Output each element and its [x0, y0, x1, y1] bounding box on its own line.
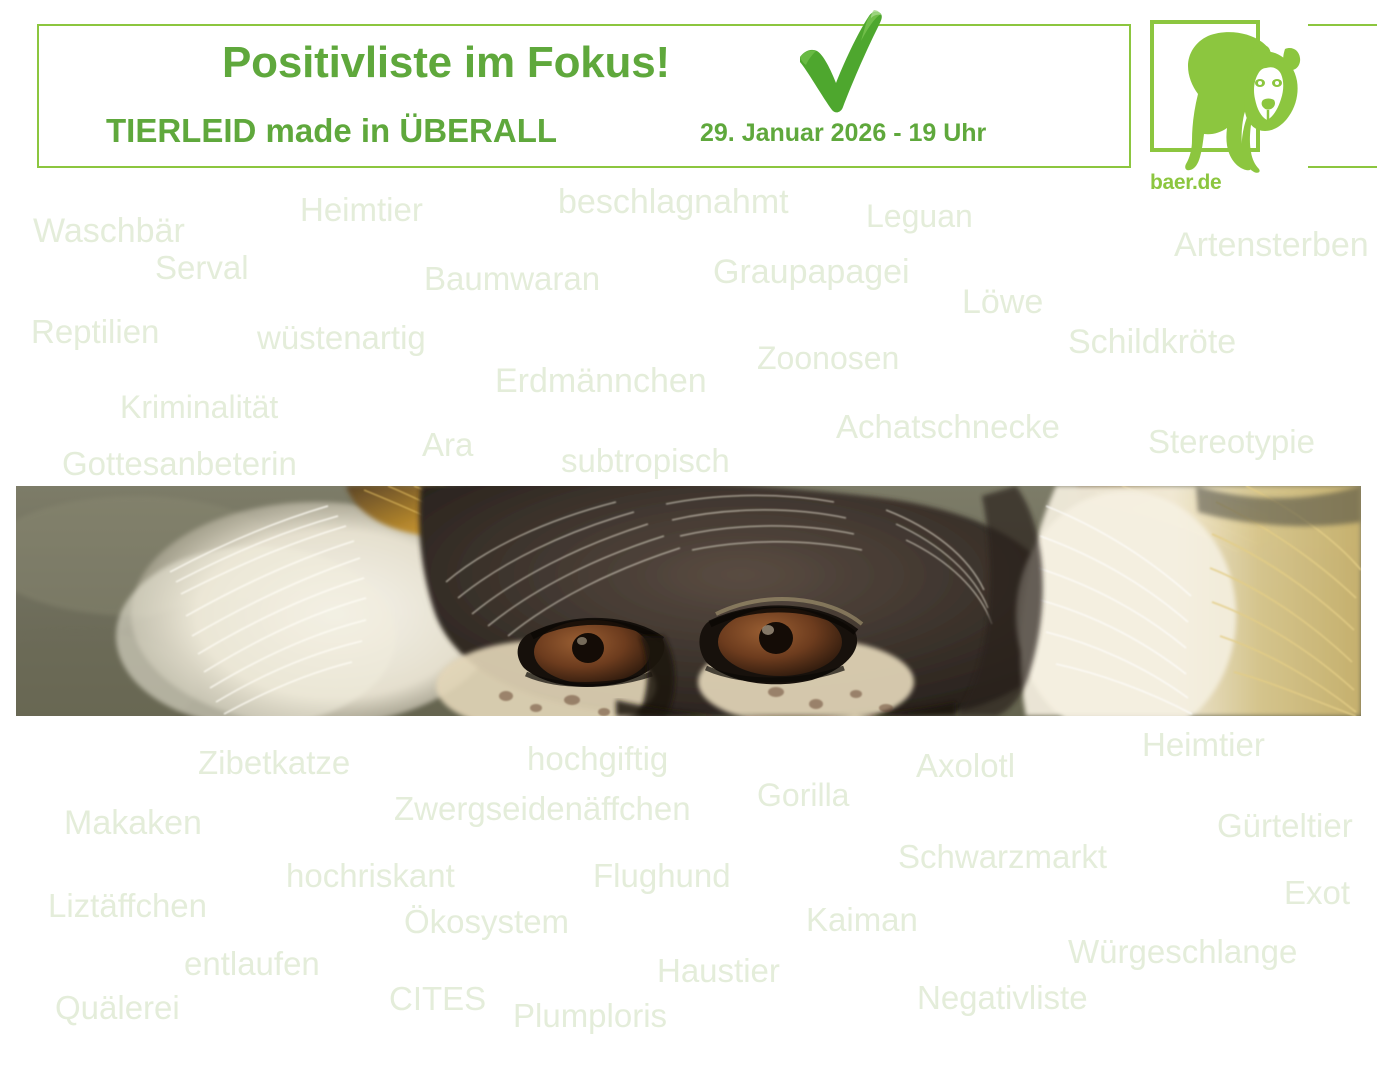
cloud-word: wüstenartig: [257, 321, 426, 354]
cloud-word: Stereotypie: [1148, 425, 1315, 458]
cloud-word: Zoonosen: [757, 342, 899, 374]
cloud-word: Kaiman: [806, 903, 918, 936]
cloud-word: Zwergseidenäffchen: [394, 792, 691, 825]
cloud-word: Plumploris: [513, 999, 667, 1032]
header-rule-top-right: [1308, 24, 1377, 26]
cloud-word: Exot: [1284, 876, 1350, 909]
cloud-word: Reptilien: [31, 315, 159, 348]
cloud-word: hochgiftig: [527, 742, 668, 775]
event-datetime: 29. Januar 2026 - 19 Uhr: [700, 119, 986, 148]
cloud-word: Kriminalität: [120, 391, 278, 423]
cloud-word: Achatschnecke: [836, 410, 1060, 443]
cloud-word: Makaken: [64, 806, 202, 840]
cloud-word: Flughund: [593, 859, 731, 892]
cloud-word: hochriskant: [286, 859, 455, 892]
cloud-word: Artensterben: [1174, 228, 1369, 262]
cloud-word: Heimtier: [300, 193, 423, 226]
cloud-word: subtropisch: [561, 444, 730, 477]
brand-logo[interactable]: baer.de: [1148, 18, 1308, 198]
cloud-word: Haustier: [657, 954, 780, 987]
cloud-word: Graupapagei: [713, 255, 910, 289]
cloud-word: Serval: [155, 251, 249, 284]
page-subtitle: TIERLEID made in ÜBERALL: [106, 112, 557, 150]
header-rule-bottom-right: [1308, 166, 1377, 168]
check-icon: [795, 10, 890, 115]
cloud-word: Waschbär: [33, 214, 185, 248]
cloud-word: Leguan: [866, 200, 973, 232]
cloud-word: Gottesanbeterin: [62, 447, 297, 480]
cloud-word: Gürteltier: [1217, 809, 1353, 842]
cloud-word: Heimtier: [1142, 728, 1265, 761]
cloud-word: CITES: [389, 982, 486, 1015]
cloud-word: beschlagnahmt: [558, 185, 789, 219]
cloud-word: Ökosystem: [404, 905, 569, 938]
cloud-word: Gorilla: [757, 779, 849, 811]
cloud-word: Löwe: [962, 285, 1043, 319]
cloud-word: Liztäffchen: [48, 889, 207, 922]
cloud-word: Ara: [422, 428, 473, 461]
cloud-word: Zibetkatze: [198, 746, 350, 779]
page-title: Positivliste im Fokus!: [222, 38, 670, 88]
cloud-word: Würgeschlange: [1068, 935, 1297, 968]
cloud-word: entlaufen: [184, 947, 320, 980]
cloud-word: Schildkröte: [1068, 325, 1236, 359]
monkey-face-photo: [16, 486, 1361, 716]
cloud-word: Erdmännchen: [495, 364, 707, 398]
wordcloud-top: HeimtierbeschlagnahmtLeguanWaschbärArten…: [0, 185, 1377, 485]
cloud-word: Baumwaran: [424, 262, 600, 295]
wordcloud-bottom: HeimtierZibetkatzehochgiftigAxolotlGoril…: [0, 716, 1377, 1067]
cloud-word: Axolotl: [916, 749, 1015, 782]
bear-logo-icon: [1148, 18, 1308, 173]
cloud-word: Schwarzmarkt: [898, 840, 1107, 873]
cloud-word: Negativliste: [917, 981, 1088, 1014]
cloud-word: Quälerei: [55, 991, 180, 1024]
